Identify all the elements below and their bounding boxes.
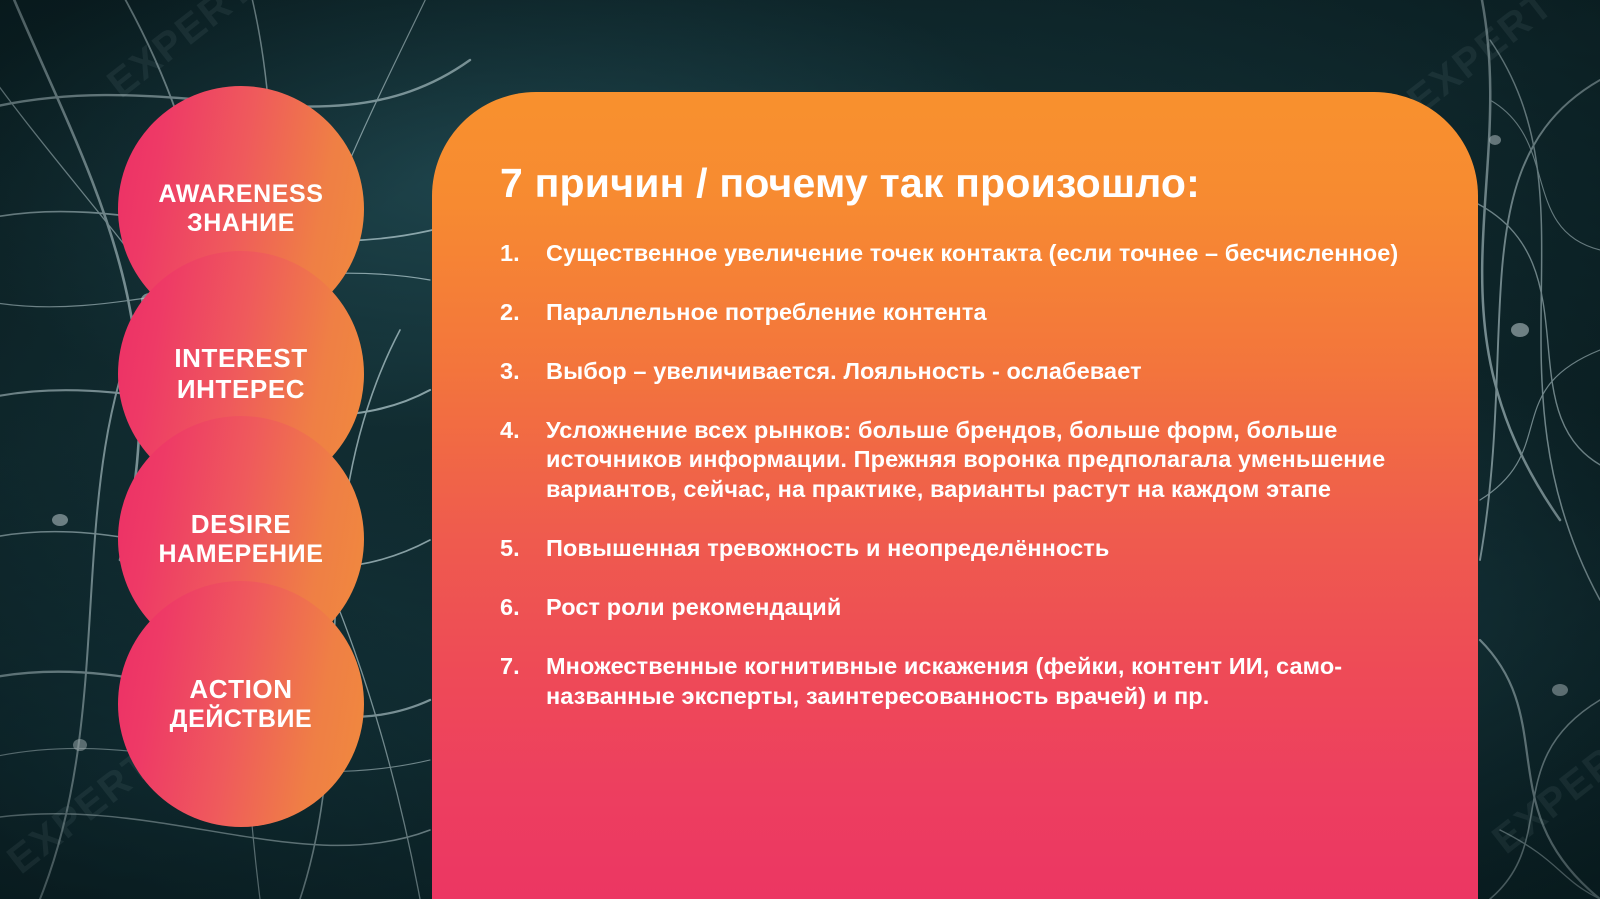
list-item-text: Повышенная тревожность и неопределённост… <box>546 534 1434 564</box>
list-item-number: 7. <box>500 652 546 682</box>
list-item-number: 5. <box>500 534 546 564</box>
list-item-number: 1. <box>500 239 546 269</box>
funnel-stage-label-en: DESIRE <box>191 509 291 540</box>
funnel-stage-label-en: AWARENESS <box>158 180 323 210</box>
list-item: 6. Рост роли рекомендаций <box>500 593 1434 623</box>
list-item: 3. Выбор – увеличивается. Лояльность - о… <box>500 357 1434 387</box>
list-item-number: 6. <box>500 593 546 623</box>
slide: EXPERT EXPERT EXPERT EXPERT AWARENESS ЗН… <box>0 0 1600 899</box>
reasons-panel: 7 причин / почему так произошло: 1. Суще… <box>432 92 1478 899</box>
list-item-text: Выбор – увеличивается. Лояльность - осла… <box>546 357 1434 387</box>
list-item-number: 3. <box>500 357 546 387</box>
list-item-text: Рост роли рекомендаций <box>546 593 1434 623</box>
page-title: 7 причин / почему так произошло: <box>500 160 1478 207</box>
funnel-stage-label-ru: НАМЕРЕНИЕ <box>158 540 323 570</box>
list-item-text: Усложнение всех рынков: больше брендов, … <box>546 416 1434 506</box>
reasons-list: 1. Существенное увеличение точек контакт… <box>432 239 1478 711</box>
funnel-stage-label-ru: ЗНАНИЕ <box>187 209 295 239</box>
funnel-stage-action[interactable]: ACTION ДЕЙСТВИЕ <box>118 581 364 827</box>
funnel-stage-label-en: INTEREST <box>174 343 307 374</box>
list-item-text: Множественные когнитивные искажения (фей… <box>546 652 1434 712</box>
list-item-number: 4. <box>500 416 546 446</box>
list-item: 4. Усложнение всех рынков: больше брендо… <box>500 416 1434 506</box>
funnel-stage-label-ru: ИНТЕРЕС <box>177 374 305 405</box>
aida-funnel: AWARENESS ЗНАНИЕ INTEREST ИНТЕРЕС DESIRE… <box>118 86 364 786</box>
list-item: 1. Существенное увеличение точек контакт… <box>500 239 1434 269</box>
list-item: 7. Множественные когнитивные искажения (… <box>500 652 1434 712</box>
funnel-stage-label-en: ACTION <box>189 674 292 705</box>
funnel-stage-label-ru: ДЕЙСТВИЕ <box>170 705 313 735</box>
list-item-text: Существенное увеличение точек контакта (… <box>546 239 1434 269</box>
list-item-text: Параллельное потребление контента <box>546 298 1434 328</box>
list-item-number: 2. <box>500 298 546 328</box>
list-item: 2. Параллельное потребление контента <box>500 298 1434 328</box>
list-item: 5. Повышенная тревожность и неопределённ… <box>500 534 1434 564</box>
